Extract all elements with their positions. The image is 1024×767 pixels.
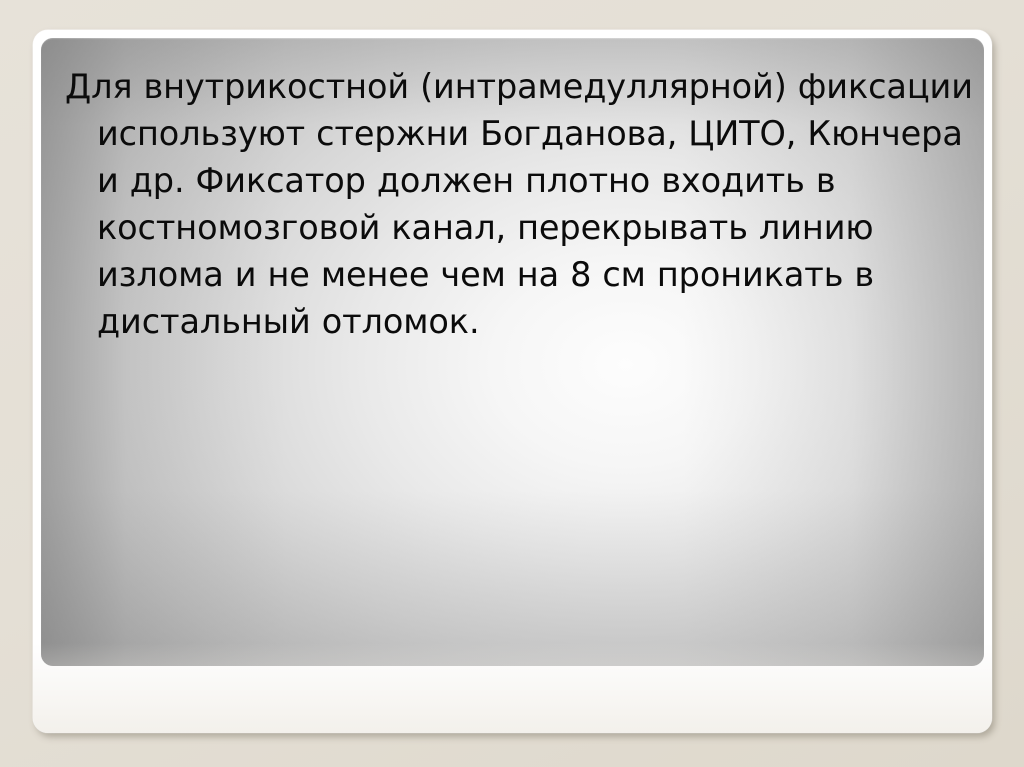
- slide-body-text: Для внутрикостной (интрамедуллярной) фик…: [65, 63, 977, 345]
- slide-content-frame: Для внутрикостной (интрамедуллярной) фик…: [33, 30, 992, 733]
- slide-root: Для внутрикостной (интрамедуллярной) фик…: [0, 0, 1024, 767]
- slide-body-panel: Для внутрикостной (интрамедуллярной) фик…: [41, 38, 984, 666]
